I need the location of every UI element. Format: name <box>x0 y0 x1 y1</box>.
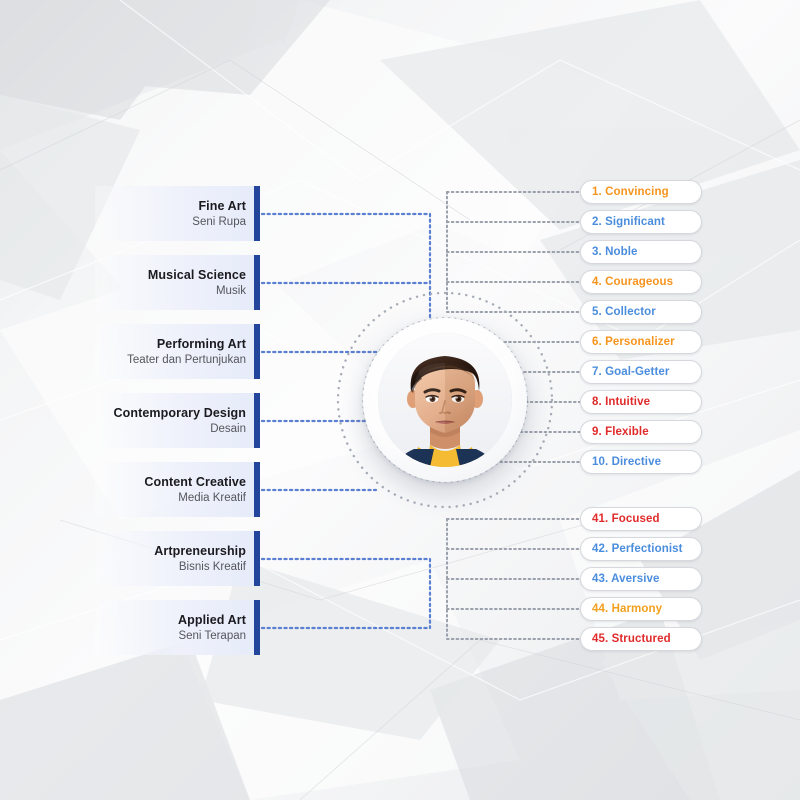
category-title: Contemporary Design <box>114 405 246 421</box>
category-subtitle: Musik <box>148 284 246 299</box>
category-bar[interactable]: Artpreneurship Bisnis Kreatif <box>95 531 260 586</box>
category-accent-edge <box>254 186 260 241</box>
category-subtitle: Seni Terapan <box>178 629 246 644</box>
trait-label: 9. Flexible <box>592 426 649 438</box>
category-accent-edge <box>254 462 260 517</box>
trait-pill[interactable]: 45. Structured <box>580 627 702 651</box>
category-bar[interactable]: Applied Art Seni Terapan <box>95 600 260 655</box>
category-subtitle: Teater dan Pertunjukan <box>127 353 246 368</box>
category-text: Contemporary Design Desain <box>114 405 246 437</box>
trait-label: 1. Convincing <box>592 186 669 198</box>
category-subtitle: Desain <box>114 422 246 437</box>
trait-pill[interactable]: 4. Courageous <box>580 270 702 294</box>
infographic-canvas: Fine Art Seni Rupa Musical Science Musik… <box>0 0 800 800</box>
trait-pill[interactable]: 44. Harmony <box>580 597 702 621</box>
trait-label: 3. Noble <box>592 246 638 258</box>
trait-label: 4. Courageous <box>592 276 673 288</box>
category-title: Artpreneurship <box>154 543 246 559</box>
trait-label: 45. Structured <box>592 633 671 645</box>
category-bar[interactable]: Contemporary Design Desain <box>95 393 260 448</box>
category-text: Fine Art Seni Rupa <box>192 198 246 230</box>
category-subtitle: Seni Rupa <box>192 215 246 230</box>
category-accent-edge <box>254 324 260 379</box>
trait-pill[interactable]: 1. Convincing <box>580 180 702 204</box>
category-accent-edge <box>254 600 260 655</box>
trait-pill[interactable]: 10. Directive <box>580 450 702 474</box>
trait-label: 8. Intuitive <box>592 396 650 408</box>
trait-pill[interactable]: 9. Flexible <box>580 420 702 444</box>
trait-label: 10. Directive <box>592 456 661 468</box>
category-text: Content Creative Media Kreatif <box>144 474 246 506</box>
category-subtitle: Bisnis Kreatif <box>154 560 246 575</box>
category-accent-edge <box>254 255 260 310</box>
category-title: Performing Art <box>127 336 246 352</box>
category-title: Musical Science <box>148 267 246 283</box>
category-accent-edge <box>254 393 260 448</box>
category-text: Applied Art Seni Terapan <box>178 612 246 644</box>
category-accent-edge <box>254 531 260 586</box>
category-title: Fine Art <box>192 198 246 214</box>
trait-label: 6. Personalizer <box>592 336 675 348</box>
category-title: Content Creative <box>144 474 246 490</box>
trait-pill[interactable]: 8. Intuitive <box>580 390 702 414</box>
category-text: Artpreneurship Bisnis Kreatif <box>154 543 246 575</box>
trait-pill[interactable]: 42. Perfectionist <box>580 537 702 561</box>
trait-label: 44. Harmony <box>592 603 662 615</box>
portrait-illustration <box>378 333 512 467</box>
trait-label: 2. Significant <box>592 216 665 228</box>
trait-pill[interactable]: 6. Personalizer <box>580 330 702 354</box>
trait-pill[interactable]: 41. Focused <box>580 507 702 531</box>
trait-label: 43. Aversive <box>592 573 659 585</box>
category-title: Applied Art <box>178 612 246 628</box>
category-text: Musical Science Musik <box>148 267 246 299</box>
center-portrait <box>363 318 527 482</box>
trait-pill[interactable]: 3. Noble <box>580 240 702 264</box>
category-bar[interactable]: Musical Science Musik <box>95 255 260 310</box>
trait-label: 41. Focused <box>592 513 660 525</box>
category-bar[interactable]: Content Creative Media Kreatif <box>95 462 260 517</box>
trait-label: 5. Collector <box>592 306 656 318</box>
portrait-photo <box>378 333 512 467</box>
category-text: Performing Art Teater dan Pertunjukan <box>127 336 246 368</box>
trait-label: 42. Perfectionist <box>592 543 683 555</box>
trait-pill[interactable]: 2. Significant <box>580 210 702 234</box>
category-subtitle: Media Kreatif <box>144 491 246 506</box>
category-bar[interactable]: Fine Art Seni Rupa <box>95 186 260 241</box>
trait-pill[interactable]: 5. Collector <box>580 300 702 324</box>
trait-pill[interactable]: 43. Aversive <box>580 567 702 591</box>
trait-label: 7. Goal-Getter <box>592 366 669 378</box>
category-bar[interactable]: Performing Art Teater dan Pertunjukan <box>95 324 260 379</box>
trait-pill[interactable]: 7. Goal-Getter <box>580 360 702 384</box>
